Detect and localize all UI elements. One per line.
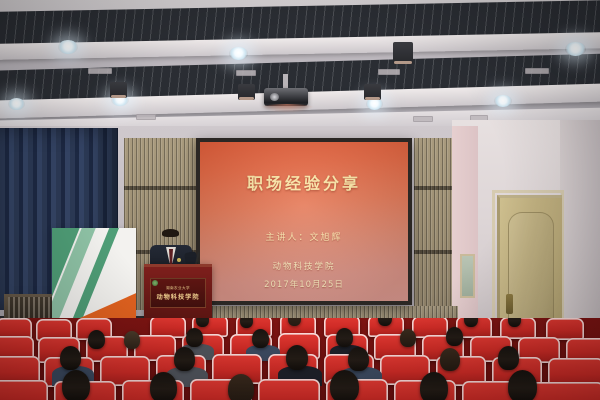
audience-head <box>498 346 519 370</box>
exit-door[interactable] <box>497 195 562 336</box>
ceiling-downlight <box>565 42 586 56</box>
ceiling-spotlight-canister <box>110 82 127 98</box>
auditorium-seat <box>258 379 320 400</box>
slide-title: 职场经验分享 <box>200 170 408 194</box>
door-handle[interactable] <box>506 294 513 314</box>
audience-head <box>174 347 195 371</box>
auditorium-seat <box>530 382 600 400</box>
audience-head <box>336 328 353 347</box>
ceiling-vent <box>525 68 549 74</box>
audience-head <box>150 372 177 400</box>
wall-window <box>460 254 475 298</box>
slide-date: 2017年10月25日 <box>200 278 408 290</box>
audience-head <box>348 347 369 371</box>
projection-screen: 职场经验分享 主讲人：文旭辉 动物科技学院 2017年10月25日 <box>200 142 408 301</box>
podium-sign: 湖南农业大学 动物科技学院 <box>150 278 206 308</box>
audience-head <box>440 348 460 371</box>
ceiling-vent <box>378 69 400 75</box>
audience-head <box>186 328 203 347</box>
ceiling-vent <box>136 114 156 120</box>
audience-head <box>240 318 253 328</box>
ceiling-spotlight-canister <box>393 42 413 64</box>
audience-head <box>330 370 359 400</box>
speaker-hair <box>162 229 179 237</box>
slide-organization: 动物科技学院 <box>200 260 408 272</box>
audience-seating-area <box>0 318 600 400</box>
audience-head <box>400 329 416 347</box>
slide-speaker-line: 主讲人：文旭辉 <box>200 230 408 243</box>
audience-head <box>62 370 90 400</box>
audience-head <box>420 372 448 400</box>
ceiling-downlight <box>58 40 78 54</box>
ceiling-downlight <box>229 47 248 60</box>
audience-head <box>228 374 254 400</box>
podium-college-text: 动物科技学院 <box>156 292 199 301</box>
auditorium-seat <box>0 380 48 400</box>
ceiling-vent <box>413 116 433 122</box>
audience-head <box>508 370 537 400</box>
door-panel <box>508 212 554 326</box>
projection-screen-frame: 职场经验分享 主讲人：文旭辉 动物科技学院 2017年10月25日 <box>196 138 412 305</box>
ceiling-vent <box>88 68 112 74</box>
ceiling-downlight <box>494 95 512 107</box>
audience-head <box>252 329 269 348</box>
audience-head <box>60 346 81 370</box>
audience-head <box>286 345 308 370</box>
ceiling-spotlight-canister <box>364 84 381 100</box>
right-far-wall <box>560 120 600 330</box>
university-logo-icon <box>152 280 158 286</box>
ceiling-downlight <box>8 98 25 110</box>
audience-head <box>446 327 463 346</box>
audience-head <box>124 331 140 349</box>
auditorium-photo: 职场经验分享 主讲人：文旭辉 动物科技学院 2017年10月25日 湖南农业大学… <box>0 0 600 400</box>
podium-university-text: 湖南农业大学 <box>166 286 190 291</box>
speaker-lapel-badge <box>177 258 181 262</box>
wood-slat-wall-right <box>414 138 456 310</box>
audience-head <box>88 330 105 349</box>
projector-light-glow <box>258 104 316 113</box>
ceiling-vent <box>236 70 256 76</box>
ceiling-spotlight-canister <box>238 84 255 100</box>
